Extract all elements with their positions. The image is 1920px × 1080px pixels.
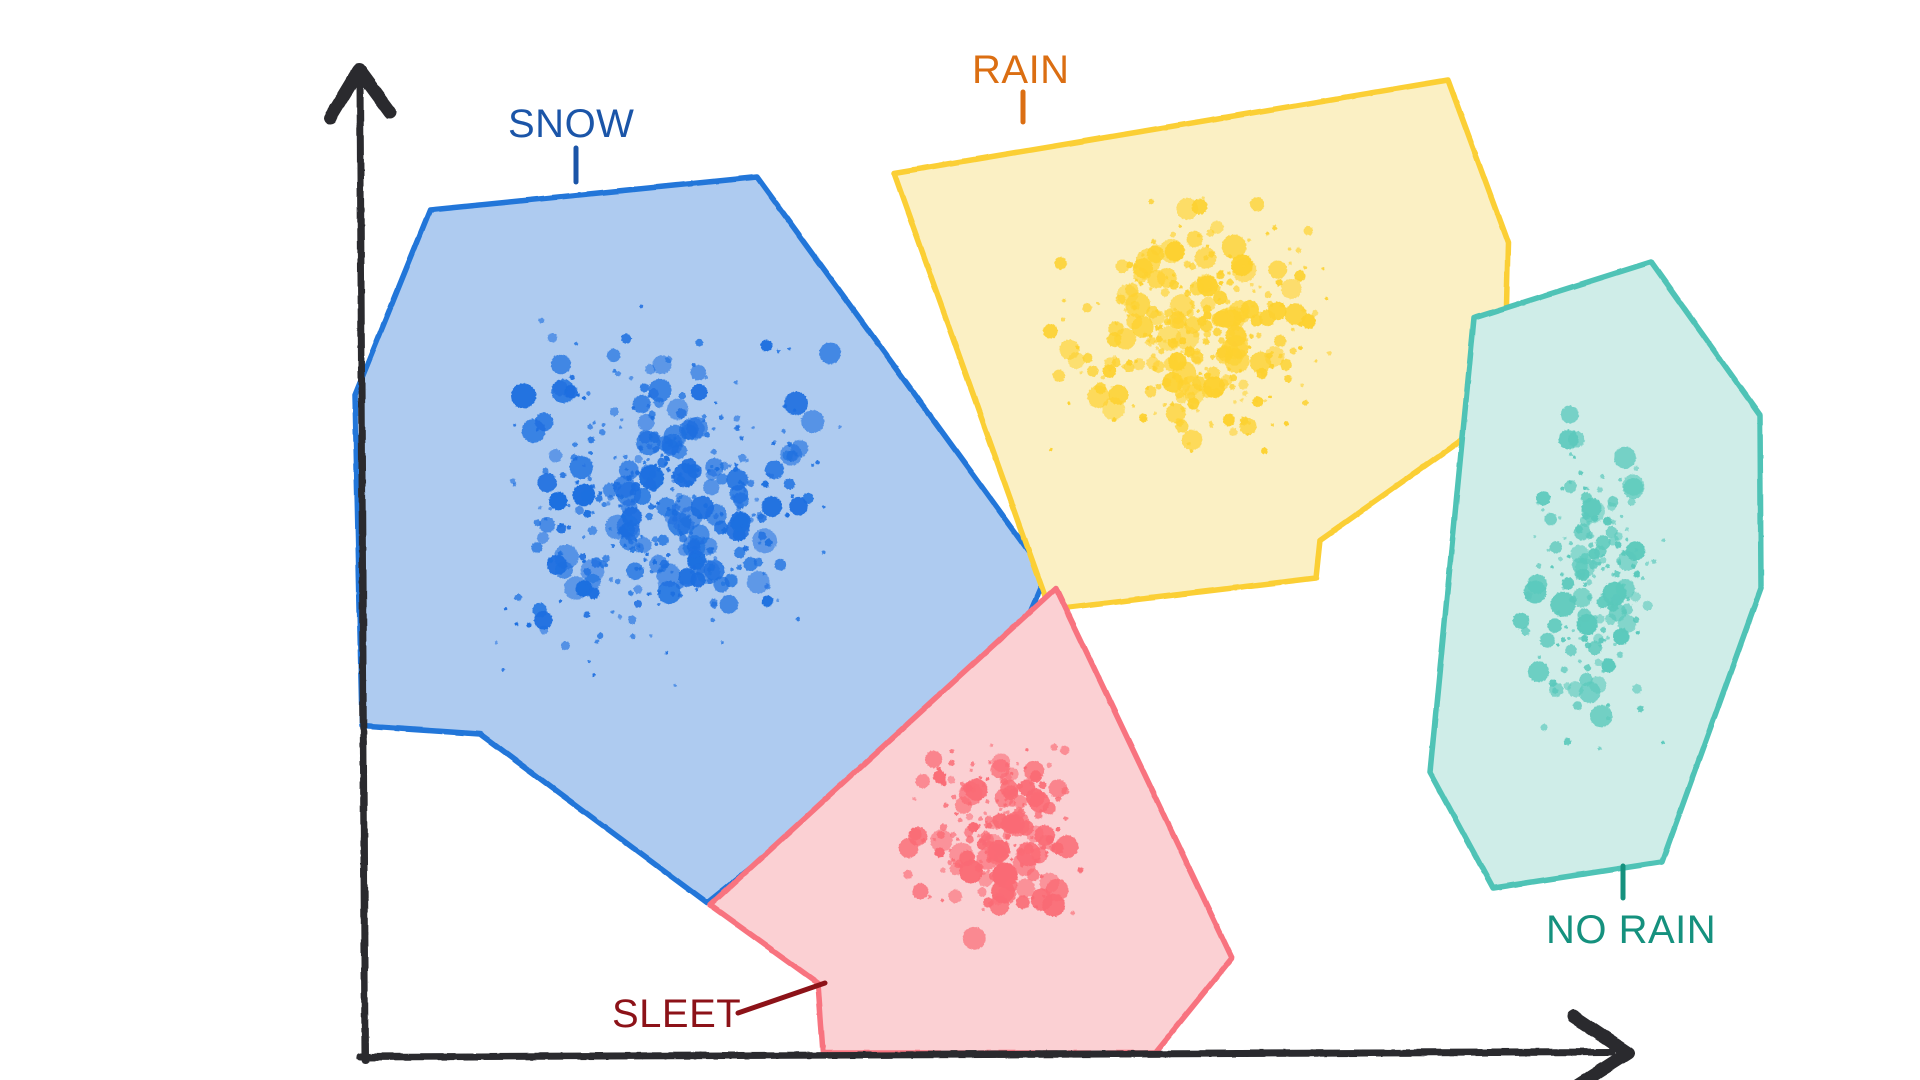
data-point [1162,378,1171,387]
data-point [537,473,556,492]
data-point [1587,594,1593,600]
data-point [1264,399,1267,402]
data-point [1272,225,1277,230]
data-point [1567,554,1571,558]
data-point [1533,535,1536,538]
data-point [1135,278,1138,281]
data-point [1179,285,1182,288]
data-point [785,513,790,518]
data-point [1290,348,1297,355]
data-point [1583,487,1587,491]
data-point [949,843,973,867]
data-point [615,579,621,585]
data-point [570,456,593,479]
data-point [636,537,652,553]
data-point [733,467,738,472]
data-point [783,450,794,461]
data-point [966,813,973,820]
data-point [1645,562,1649,566]
data-point [784,391,808,415]
data-point [1314,360,1317,363]
data-point [623,455,628,460]
data-point [1191,284,1194,287]
data-point [711,602,718,609]
data-point [1582,512,1590,520]
data-point [598,491,602,495]
data-point [1046,762,1052,768]
data-point [1003,811,1006,814]
data-point [1322,267,1325,270]
data-point [561,641,570,650]
data-point [1606,703,1610,707]
data-point [1303,400,1309,406]
data-point [977,824,981,828]
data-point [611,544,615,548]
data-point [679,392,686,399]
data-point [544,517,547,520]
data-point [1589,548,1600,559]
data-point [1170,353,1177,360]
data-point [1621,628,1626,633]
data-point [1133,358,1145,370]
data-point [582,536,585,539]
data-point [621,499,637,515]
cluster-label-snow: SNOW [508,102,634,147]
data-point [1261,447,1268,454]
data-point [734,415,741,422]
data-point [1550,565,1553,568]
data-point [1144,272,1151,279]
data-point [1172,273,1175,276]
data-point [1187,442,1190,445]
data-point [1198,372,1202,376]
data-point [736,506,741,511]
data-point [955,812,958,815]
data-point [781,429,786,434]
data-point [574,342,577,345]
data-point [613,456,616,459]
data-point [1581,635,1588,642]
data-point [1567,637,1570,640]
data-point [667,399,688,420]
data-point [789,497,808,516]
data-point [1005,879,1018,892]
data-point [1303,266,1307,270]
data-point [990,744,993,747]
data-point [1278,354,1283,359]
data-point [630,471,634,475]
data-point [634,585,643,594]
data-point [788,347,791,350]
data-point [547,333,557,343]
data-point [734,463,738,467]
data-point [640,383,649,392]
data-point [950,749,954,753]
data-point [676,581,684,589]
data-point [1556,643,1559,646]
data-point [1179,311,1183,315]
data-point [628,590,634,596]
data-point [1625,538,1629,542]
data-point [1544,513,1557,526]
data-point [1579,637,1582,640]
data-point [702,414,707,419]
data-point [948,889,962,903]
data-point [1561,487,1565,491]
data-point [572,442,577,447]
data-point [1173,308,1176,311]
data-point [1635,548,1638,551]
data-point [1141,276,1145,280]
data-point [602,423,606,427]
data-point [601,502,606,507]
data-point [1609,602,1612,605]
data-point [635,470,640,475]
data-point [1549,683,1563,697]
data-point [1161,288,1170,297]
data-point [1190,449,1193,452]
data-point [1157,326,1182,351]
data-point [1163,403,1167,407]
data-point [649,634,652,637]
data-point [1276,279,1283,286]
data-point [1061,317,1065,321]
data-point [1022,803,1025,806]
data-point [1513,613,1530,630]
data-point [1190,300,1195,305]
data-point [1148,199,1154,205]
data-point [511,383,536,408]
data-point [937,767,942,772]
data-point [965,778,987,800]
data-point [1139,281,1144,286]
data-point [1288,262,1292,266]
data-point [1256,333,1261,338]
data-point [1053,370,1065,382]
data-point [933,838,936,841]
data-point [745,459,749,463]
data-point [1010,866,1016,872]
data-point [979,860,982,863]
x-axis-line [360,1052,1612,1057]
data-point [602,555,610,563]
data-point [1593,633,1603,643]
data-point [1184,323,1187,326]
data-point [1284,375,1292,383]
data-point [721,527,726,532]
data-point [734,426,739,431]
data-point [658,535,669,546]
data-point [1626,597,1630,601]
data-point [899,838,919,858]
data-point [1621,609,1627,615]
data-point [966,836,974,844]
data-point [585,574,601,590]
data-point [1124,362,1135,373]
data-point [1291,327,1295,331]
data-point [1082,303,1092,313]
data-point [515,594,522,601]
data-point [1051,744,1058,751]
data-point [1019,779,1036,796]
data-point [588,436,595,443]
data-point [1593,615,1598,620]
data-point [613,482,621,490]
data-point [645,364,656,375]
data-point [1225,348,1243,366]
data-point [629,520,632,523]
data-point [1189,405,1194,410]
data-point [1223,414,1235,426]
data-point [1662,539,1665,542]
data-point [643,461,646,464]
data-point [588,476,592,480]
data-point [1547,549,1550,552]
data-point [515,622,519,626]
data-point [956,837,959,840]
data-point [1560,573,1563,576]
data-point [1187,231,1204,248]
data-point [1608,496,1619,507]
data-point [674,684,677,687]
data-point [720,513,723,516]
data-point [1196,375,1199,378]
data-point [738,454,746,462]
data-point [1241,318,1244,321]
data-point [838,425,841,428]
data-point [1551,592,1576,617]
data-point [1588,543,1593,548]
data-point [751,426,754,429]
data-point [656,501,659,504]
data-point [573,484,596,507]
data-point [755,498,759,502]
data-point [754,558,763,567]
data-point [513,423,516,426]
data-point [1228,254,1232,258]
data-point [1633,617,1639,623]
data-point [1218,298,1221,301]
data-point [772,442,776,446]
data-point [1572,629,1575,632]
data-point [1192,199,1208,215]
data-point [987,869,990,872]
data-point [1598,747,1602,751]
data-point [1227,271,1230,274]
data-point [1087,366,1098,377]
data-point [793,409,796,412]
data-point [657,468,661,472]
data-point [1227,279,1234,286]
data-point [747,571,770,594]
data-point [1001,778,1008,785]
data-point [1239,369,1242,372]
data-point [1060,746,1069,755]
data-point [1203,338,1210,345]
data-point [784,478,795,489]
data-point [1184,377,1187,380]
data-point [1219,281,1224,286]
data-point [1196,409,1199,412]
data-point [1274,335,1286,347]
data-point [1565,625,1568,628]
data-point [1147,246,1164,263]
data-point [815,460,820,465]
cluster-label-no-rain: NO RAIN [1546,908,1716,953]
data-point [738,480,742,484]
data-point [646,513,653,520]
data-point [591,511,594,514]
data-point [655,542,658,545]
data-point [712,427,715,430]
data-point [1618,478,1622,482]
data-point [1621,596,1624,599]
data-point [1606,564,1610,568]
data-point [1563,537,1566,540]
data-point [1269,364,1274,369]
data-point [1258,285,1261,288]
data-point [608,495,614,501]
data-point [666,467,671,472]
data-point [714,401,717,404]
data-point [630,634,635,639]
data-point [630,474,633,477]
data-point [1601,554,1604,557]
data-point [670,487,674,491]
data-point [728,464,731,467]
data-point [819,342,841,364]
data-point [1243,308,1248,313]
data-point [1127,314,1130,317]
data-point [1606,636,1610,640]
data-point [1569,541,1573,545]
data-point [903,870,912,879]
data-point [739,436,743,440]
data-point [1039,781,1047,789]
data-point [958,818,963,823]
data-point [620,418,623,421]
data-point [606,501,611,506]
data-point [985,816,993,824]
data-point [1573,456,1576,459]
data-point [542,468,548,474]
data-point [639,430,653,444]
data-point [1600,474,1605,479]
data-point [1613,570,1620,577]
data-point [617,515,640,538]
data-point [1203,304,1212,313]
data-point [665,651,668,654]
data-point [510,478,516,484]
data-point [1561,637,1566,642]
data-point [1599,644,1602,647]
data-point [1164,318,1171,325]
data-point [1169,280,1179,290]
data-point [1558,557,1563,562]
data-point [1104,357,1116,369]
data-point [1005,763,1009,767]
data-point [695,339,703,347]
data-point [692,363,696,367]
data-point [630,489,637,496]
data-point [984,812,987,815]
data-point [675,495,693,513]
data-point [757,514,766,523]
data-point [978,816,983,821]
data-point [537,532,549,544]
data-point [1001,814,1021,834]
data-point [1628,498,1636,506]
data-point [657,458,667,468]
data-point [1574,523,1591,540]
data-point [1204,367,1208,371]
data-point [1573,701,1582,710]
data-point [1541,508,1544,511]
data-point [547,555,567,575]
data-point [1600,627,1606,633]
data-point [774,559,786,571]
data-point [1528,661,1549,682]
data-point [1601,567,1605,571]
data-point [1165,316,1168,319]
data-point [504,607,507,610]
data-point [531,542,542,553]
data-point [762,595,773,606]
data-point [1288,248,1291,251]
data-point [1101,375,1105,379]
data-point [1096,302,1099,305]
y-axis-line [360,78,365,1060]
data-point [611,610,614,613]
data-point [1010,858,1013,861]
data-point [596,495,603,502]
data-point [941,899,944,902]
data-point [1040,873,1060,893]
data-point [569,375,574,380]
data-point [1620,515,1623,518]
data-point [1634,466,1639,471]
data-point [758,541,761,544]
data-point [1569,481,1572,484]
data-point [963,927,986,950]
data-point [1280,359,1292,371]
data-point [1166,403,1186,423]
data-point [593,421,596,424]
data-point [721,641,724,644]
data-point [1568,431,1584,447]
data-point [618,615,623,620]
data-point [1189,263,1196,270]
data-point [1558,516,1561,519]
scatter-cluster-figure: SNOW RAIN SLEET NO RAIN [0,0,1920,1080]
data-point [626,562,644,580]
data-point [1206,244,1209,247]
data-point [734,380,738,384]
data-point [1562,586,1566,590]
data-point [634,600,642,608]
data-point [1590,705,1612,727]
data-point [612,369,616,373]
data-point [526,622,531,627]
data-point [1029,792,1050,813]
data-point [955,797,972,814]
data-point [977,887,986,896]
hull-fill [1430,262,1761,888]
data-point [1561,666,1568,673]
data-point [1156,384,1162,390]
data-point [1613,643,1617,647]
data-point [975,864,984,873]
